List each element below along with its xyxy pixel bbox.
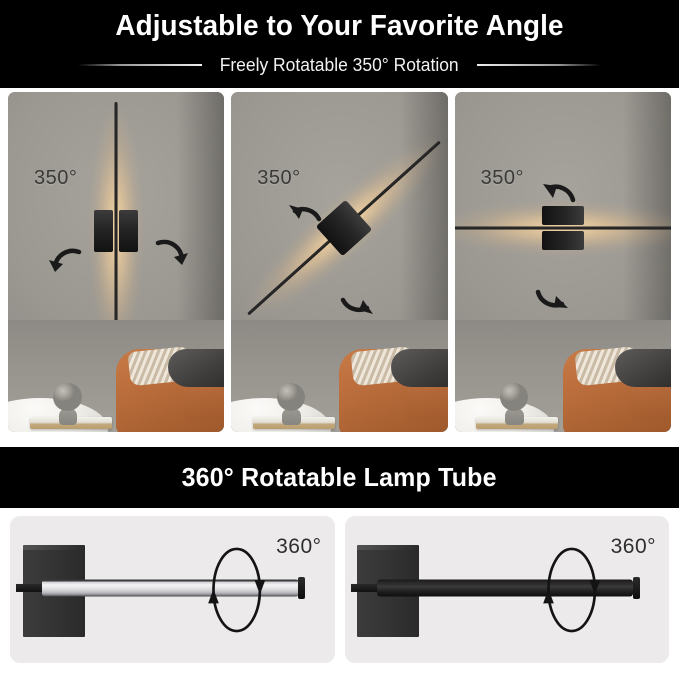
diagram-silver-tube: 360° [10,516,335,663]
angle-label-350: 350° [34,167,77,190]
figurine-head [500,383,528,411]
mount-block-left [94,210,113,252]
rotation-ellipse-icon [201,535,272,644]
bracket-highlight [23,545,85,549]
angle-label-350: 350° [257,167,300,190]
lamp-mount [94,210,138,252]
figurine-head [277,383,305,411]
throw-blanket [615,349,671,387]
subtitle-row: Freely Rotatable 350° Rotation [0,52,679,78]
room-scene [8,320,224,432]
photo-panel-vertical: 350° [8,92,224,432]
figurine-body [505,408,523,425]
throw-blanket [168,349,224,387]
rotate-right-arrow-icon [335,276,381,322]
figurine-head [53,383,81,411]
rotate-right-arrow-icon [148,235,194,281]
diagram-black-tube: 360° [345,516,670,663]
rotate-left-arrow-icon [43,242,89,288]
angle-label-360: 360° [611,535,656,559]
throw-blanket [391,349,447,387]
section-banner: 360° Rotatable Lamp Tube [0,447,679,508]
header-banner: Adjustable to Your Favorite Angle Freely… [0,0,679,88]
figurine-body [59,408,77,425]
room-scene [231,320,447,432]
rotate-right-arrow-icon [530,272,576,318]
product-infographic: Adjustable to Your Favorite Angle Freely… [0,0,679,673]
mount-block-right [119,210,138,252]
rotate-left-arrow-icon [535,174,581,220]
rotate-left-arrow-icon [281,197,327,243]
angle-label-360: 360° [276,535,321,559]
mount-block-right [542,231,584,250]
tube-endcap [298,577,305,599]
photo-panel-horizontal: 350° [455,92,671,432]
angle-label-350: 350° [481,167,524,190]
section-title: 360° Rotatable Lamp Tube [182,462,497,493]
divider-line-left [78,64,202,66]
photo-panel-diagonal: 350° [231,92,447,432]
rotation-ellipse-icon [536,535,607,644]
bracket-highlight [357,545,419,549]
figurine-body [282,408,300,425]
diagram-row: 360° 360° [0,508,679,673]
photo-panel-row: 350° [0,88,679,436]
tube-endcap [633,577,640,599]
divider-line-right [477,64,601,66]
room-scene [455,320,671,432]
page-subtitle: Freely Rotatable 350° Rotation [220,55,459,76]
page-title: Adjustable to Your Favorite Angle [14,10,666,43]
